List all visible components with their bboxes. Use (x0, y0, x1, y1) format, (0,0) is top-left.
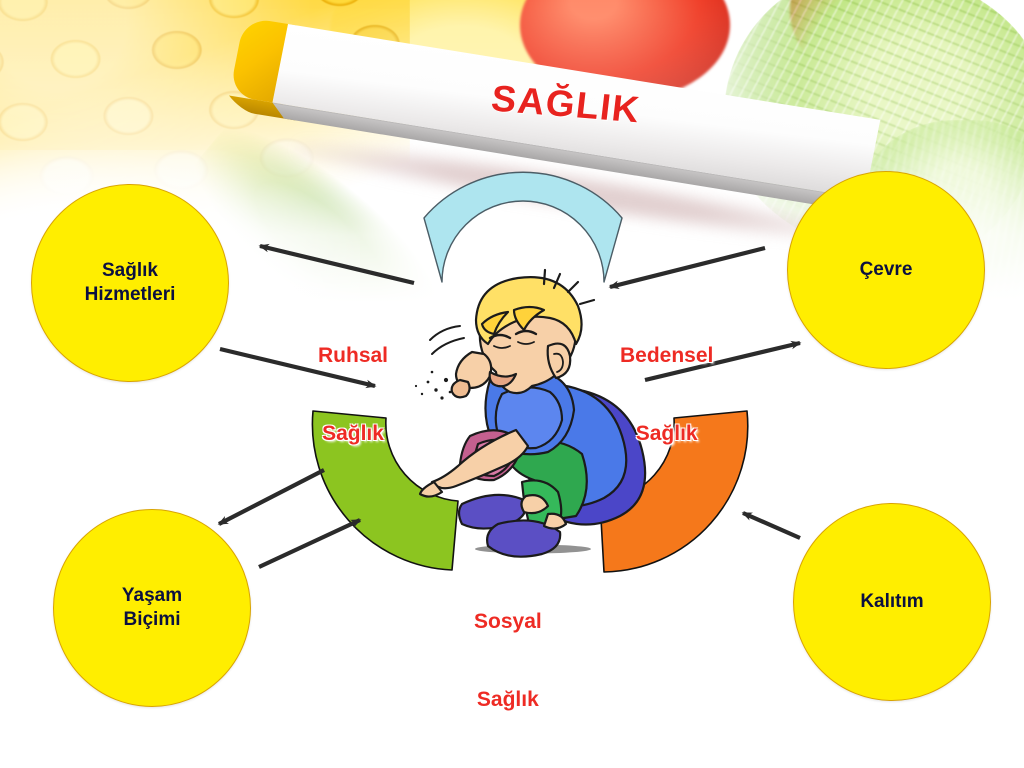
node-label-line1: Sağlık (85, 259, 176, 283)
light-blue-arc (424, 172, 622, 282)
slide-canvas: SAĞLIK (0, 0, 1024, 768)
node-label-line1: Çevre (860, 258, 913, 282)
label-line2: Sağlık (318, 421, 388, 447)
node-yasam-bicimi[interactable]: Yaşam Biçimi (53, 509, 251, 707)
node-label-line1: Yaşam (122, 584, 182, 608)
label-line1: Sosyal (474, 609, 542, 635)
node-label-yasam-bicimi: Yaşam Biçimi (122, 584, 182, 633)
label-bedensel-saglik: Bedensel Sağlık (620, 290, 713, 500)
label-line1: Bedensel (620, 343, 713, 369)
node-saglik-hizmetleri[interactable]: Sağlık Hizmetleri (31, 184, 229, 382)
node-label-line1: Kalıtım (860, 590, 923, 614)
label-line1: Ruhsal (318, 343, 388, 369)
node-label-saglik-hizmetleri: Sağlık Hizmetleri (85, 259, 176, 308)
label-ruhsal-saglik: Ruhsal Sağlık (318, 290, 388, 500)
label-line2: Sağlık (620, 421, 713, 447)
node-label-kalitim: Kalıtım (860, 590, 923, 614)
node-label-cevre: Çevre (860, 258, 913, 282)
node-kalitim[interactable]: Kalıtım (793, 503, 991, 701)
label-sosyal-saglik: Sosyal Sağlık (474, 556, 542, 766)
label-line2: Sağlık (474, 687, 542, 713)
node-label-line2: Biçimi (122, 608, 182, 632)
node-cevre[interactable]: Çevre (787, 171, 985, 369)
node-label-line2: Hizmetleri (85, 283, 176, 307)
